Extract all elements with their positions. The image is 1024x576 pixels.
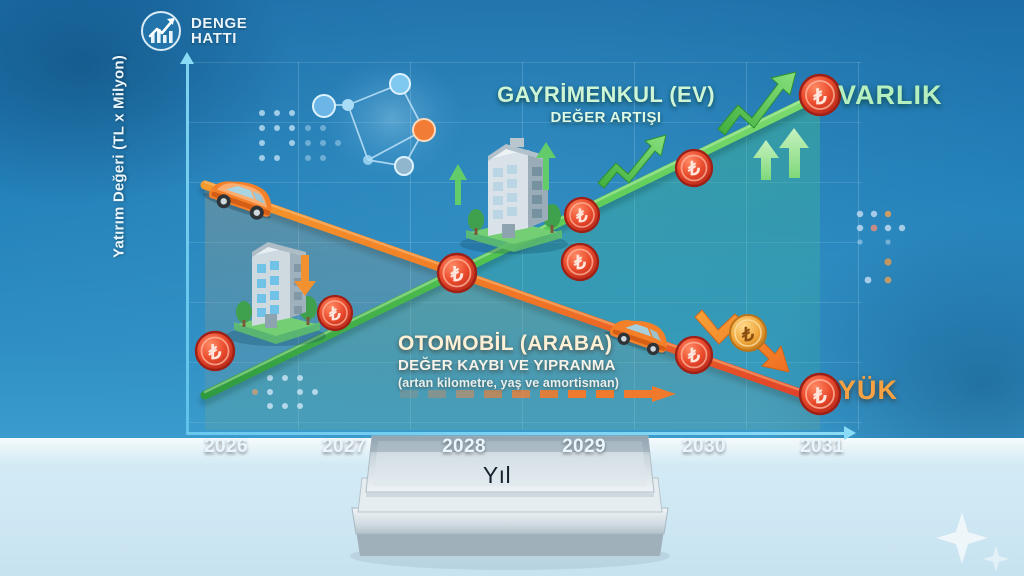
y-axis-arrowhead <box>180 52 194 64</box>
x-tick-2029: 2029 <box>562 436 606 458</box>
infographic-canvas: ₺ ₺ ₺ <box>0 0 1024 576</box>
svg-text:₺: ₺ <box>687 346 700 367</box>
endpoint-label-varlik: VARLIK <box>838 80 943 111</box>
svg-text:₺: ₺ <box>687 159 700 180</box>
otomobil-title: OTOMOBİL (ARABA) <box>398 332 658 356</box>
turkish-lira-coin-icon: ₺ <box>318 296 352 330</box>
gayrimenkul-subtitle: DEĞER ARTIŞI <box>496 109 716 126</box>
x-axis-title: Yıl <box>352 462 642 489</box>
y-axis-line <box>186 62 189 434</box>
series-label-gayrimenkul: GAYRİMENKUL (EV) DEĞER ARTIŞI <box>496 82 716 126</box>
endpoint-label-yuk: YÜK <box>838 375 898 406</box>
svg-text:₺: ₺ <box>328 304 341 324</box>
turkish-lira-coin-icon: ₺ <box>196 332 234 370</box>
up-arrow-icon <box>449 164 467 205</box>
series-label-otomobil: OTOMOBİL (ARABA) DEĞER KAYBI VE YIPRANMA… <box>398 332 658 390</box>
svg-text:₺: ₺ <box>573 253 586 274</box>
x-axis-line <box>186 432 846 435</box>
y-axis-title: Yatırım Değeri (TL x Milyon) <box>111 32 128 282</box>
svg-text:₺: ₺ <box>812 384 827 408</box>
otomobil-note: (artan kilometre, yaş ve amortisman) <box>398 376 658 390</box>
turkish-lira-coin-icon: ₺ <box>800 374 840 414</box>
turkish-lira-coin-icon: ₺ <box>676 337 712 373</box>
gayrimenkul-title: GAYRİMENKUL (EV) <box>496 82 716 108</box>
turkish-lira-coin-icon: ₺ <box>438 254 476 292</box>
sparkle-icon <box>936 512 1009 572</box>
x-tick-2026: 2026 <box>204 436 248 458</box>
brand-name-line2: HATTI <box>191 31 247 46</box>
svg-text:₺: ₺ <box>575 206 588 226</box>
x-tick-2028: 2028 <box>442 436 486 458</box>
dot-matrix-right <box>857 211 905 284</box>
turkish-lira-coin-icon: ₺ <box>730 315 766 351</box>
x-tick-2030: 2030 <box>682 436 726 458</box>
svg-text:₺: ₺ <box>208 342 222 364</box>
network-nodes-icon <box>313 56 464 180</box>
svg-text:₺: ₺ <box>450 264 464 286</box>
turkish-lira-coin-icon: ₺ <box>800 75 840 115</box>
brand-name-line1: DENGE <box>191 16 247 31</box>
turkish-lira-coin-icon: ₺ <box>565 198 599 232</box>
svg-text:₺: ₺ <box>812 85 827 109</box>
chart-logo-icon <box>140 10 182 52</box>
turkish-lira-coin-icon: ₺ <box>562 244 598 280</box>
otomobil-subtitle: DEĞER KAYBI VE YIPRANMA <box>398 357 658 374</box>
svg-text:₺: ₺ <box>741 325 754 346</box>
x-tick-2027: 2027 <box>322 436 366 458</box>
brand-logo[interactable]: DENGE HATTI <box>140 10 247 52</box>
x-tick-2031: 2031 <box>800 436 844 458</box>
turkish-lira-coin-icon: ₺ <box>676 150 712 186</box>
